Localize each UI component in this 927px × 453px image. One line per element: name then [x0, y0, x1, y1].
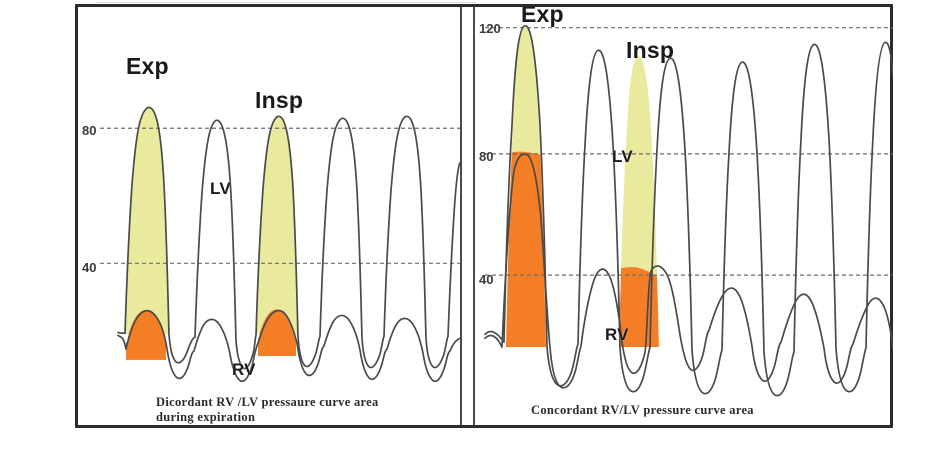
caption-discordant: Dicordant RV /LV pressaure curve area du…: [156, 395, 416, 425]
label-rv-left: RV: [232, 360, 256, 380]
concordant-waveform-svg: [471, 7, 893, 425]
panel-discordant: 80 40 Exp Insp LV RV: [78, 7, 463, 425]
panel-divider-left: [460, 7, 462, 425]
figure-frame: 80 40 Exp Insp LV RV: [75, 4, 893, 428]
label-lv-left: LV: [210, 179, 231, 199]
lv-area-shade-exp: [499, 17, 555, 155]
label-insp-right: Insp: [626, 37, 674, 64]
pressure-curve-figure: 80 40 Exp Insp LV RV: [0, 0, 927, 453]
tick-label-40-right: 40: [479, 272, 493, 287]
concordant-plot-area: [471, 7, 893, 425]
lv-area-shade-insp: [250, 96, 308, 342]
label-lv-right: LV: [612, 147, 633, 167]
caption-concordant: Concordant RV/LV pressure curve area: [531, 403, 861, 418]
label-insp-left: Insp: [255, 87, 303, 114]
lv-pressure-trace: [485, 26, 893, 396]
tick-label-80-right: 80: [479, 149, 493, 164]
tick-label-40-left: 40: [82, 260, 96, 275]
scan-artifact-line: [96, 2, 476, 3]
label-exp-right: Exp: [521, 7, 564, 28]
tick-label-120-right: 120: [479, 21, 501, 36]
label-exp-left: Exp: [126, 53, 169, 80]
label-rv-right: RV: [605, 325, 629, 345]
tick-label-80-left: 80: [82, 123, 96, 138]
panel-concordant: 120 80 40 Exp Insp LV RV Concordant RV/L…: [471, 7, 893, 425]
